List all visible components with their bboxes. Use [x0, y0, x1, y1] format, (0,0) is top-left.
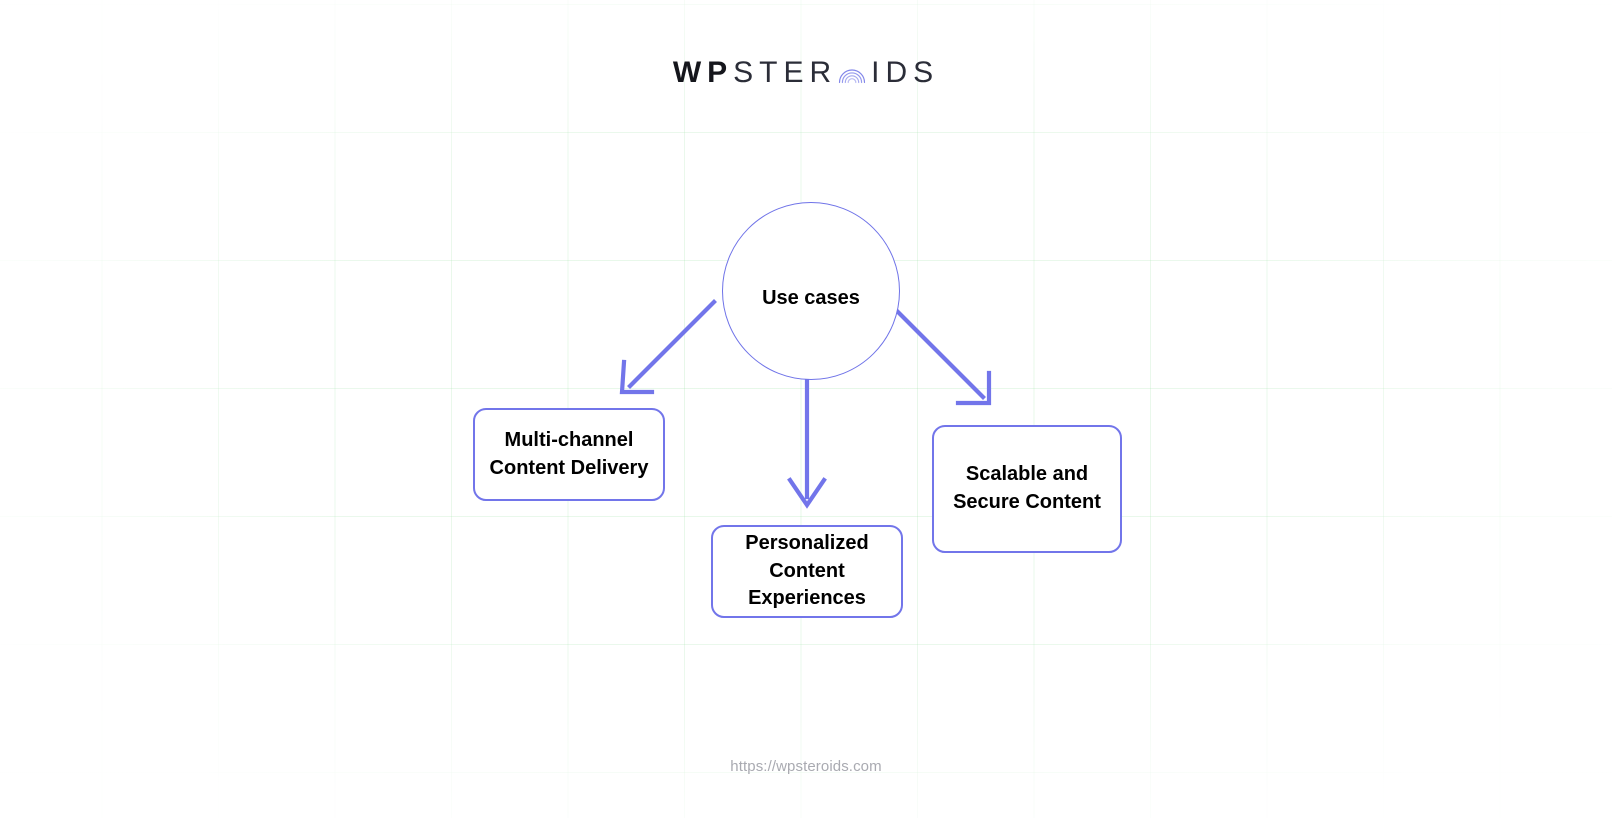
diagram-canvas: WP STER IDS	[0, 0, 1612, 818]
node-scalable-and-secure-content-label: Scalable and Secure Content	[944, 461, 1110, 516]
connector-to-personalized-content-experiences	[790, 380, 824, 505]
node-multi-channel-content-delivery[interactable]: Multi-channel Content Delivery	[473, 408, 665, 501]
node-use-cases[interactable]: Use cases	[722, 202, 900, 380]
node-personalized-content-experiences-label: Personalized Content Experiences	[723, 530, 891, 613]
node-multi-channel-content-delivery-label: Multi-channel Content Delivery	[485, 427, 653, 482]
node-scalable-and-secure-content[interactable]: Scalable and Secure Content	[932, 425, 1122, 553]
connector-to-scalable-and-secure-content	[896, 310, 989, 403]
footer-url[interactable]: https://wpsteroids.com	[0, 758, 1612, 775]
connector-to-multi-channel-content-delivery	[622, 302, 714, 392]
connector-layer	[0, 0, 1612, 818]
node-use-cases-label: Use cases	[762, 286, 860, 311]
node-personalized-content-experiences[interactable]: Personalized Content Experiences	[711, 525, 903, 618]
